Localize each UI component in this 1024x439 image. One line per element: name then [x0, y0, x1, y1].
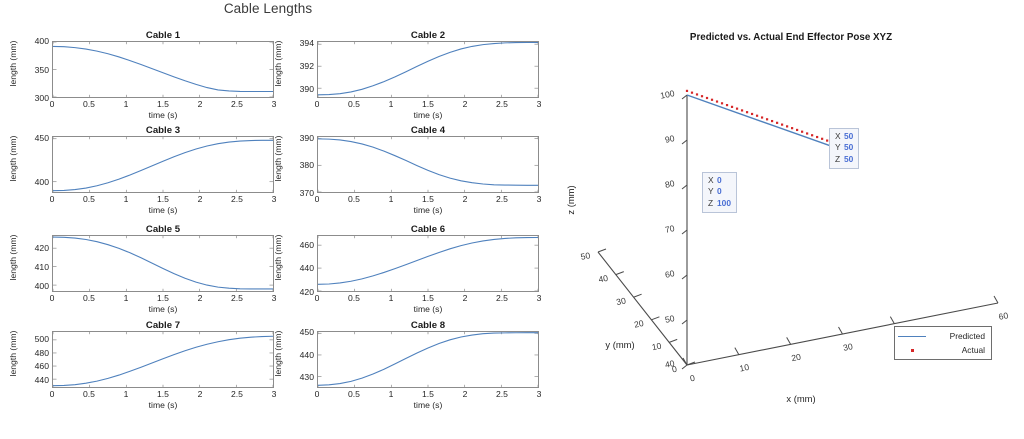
z-axis-label: z (mm)	[565, 185, 576, 214]
cable-7-ytick-label: 440	[19, 375, 49, 385]
cable-3-ylabel: length (mm)	[8, 124, 18, 193]
cable-axes-5	[52, 235, 274, 292]
cable-2-xtick-label: 1.5	[416, 99, 440, 109]
z-axis-tick-label: 70	[664, 223, 676, 235]
z-axis-tickmark	[682, 320, 687, 324]
matlab-figure: Cable Lengths Cable 130035040000.511.522…	[0, 0, 1024, 439]
pose-plot-axes: 0102030406001020304050405060708090100x (…	[556, 0, 1024, 439]
actual-marker	[821, 138, 823, 140]
cable-subplot-1: Cable 130035040000.511.522.53length (mm)…	[52, 41, 274, 98]
cable-7-xtick-label: 1.5	[151, 389, 175, 399]
cable-4-ytick-label: 380	[284, 160, 314, 170]
cable-4-ytick-label: 390	[284, 133, 314, 143]
y-axis-tickmark	[651, 317, 659, 320]
cable-1-xtick-label: 0	[40, 99, 64, 109]
actual-marker	[826, 139, 828, 141]
y-axis-label: y (mm)	[605, 339, 634, 350]
cable-curve-6	[318, 237, 538, 284]
cable-axes-3	[52, 136, 274, 193]
cable-3-ytick-label: 400	[19, 177, 49, 187]
cable-5-xtick-label: 0	[40, 293, 64, 303]
cable-7-xtick-label: 2.5	[225, 389, 249, 399]
cable-axes-6	[317, 235, 539, 292]
datatip-end-y: Y50	[835, 142, 853, 153]
cable-8-xtick-label: 2.5	[490, 389, 514, 399]
cable-axes-4	[317, 136, 539, 193]
cable-4-xtick-label: 0	[305, 194, 329, 204]
actual-marker	[736, 108, 738, 110]
cable-subplot-title-4: Cable 4	[317, 125, 539, 136]
z-axis-tick-label: 60	[664, 268, 676, 280]
cable-5-xtick-label: 3	[262, 293, 286, 303]
z-axis-tick-label: 100	[659, 88, 675, 101]
cable-2-xtick-label: 0.5	[342, 99, 366, 109]
cable-lengths-panel: Cable Lengths Cable 130035040000.511.522…	[0, 0, 556, 439]
cable-6-ytick-label: 440	[284, 263, 314, 273]
actual-marker	[776, 122, 778, 124]
y-axis-tickmark	[598, 249, 606, 252]
cable-5-ytick-label: 410	[19, 262, 49, 272]
cable-7-ytick-label: 500	[19, 334, 49, 344]
cable-7-ytick-label: 460	[19, 361, 49, 371]
cable-subplot-title-2: Cable 2	[317, 30, 539, 41]
cable-2-ytick-label: 390	[284, 84, 314, 94]
cable-1-ylabel: length (mm)	[8, 29, 18, 98]
actual-marker	[751, 113, 753, 115]
datatip-end-point[interactable]: X50 Y50 Z50	[829, 128, 859, 169]
cable-4-xlabel: time (s)	[317, 205, 539, 215]
cable-axes-8	[317, 331, 539, 388]
cable-5-xtick-label: 1	[114, 293, 138, 303]
cable-2-xtick-label: 2	[453, 99, 477, 109]
cable-4-ylabel: length (mm)	[273, 124, 283, 193]
cable-1-xtick-label: 0.5	[77, 99, 101, 109]
actual-marker	[796, 129, 798, 131]
cable-1-ytick-label: 400	[19, 36, 49, 46]
cable-2-xtick-label: 2.5	[490, 99, 514, 109]
z-axis-tick-label: 90	[664, 133, 676, 145]
cable-1-xtick-label: 3	[262, 99, 286, 109]
cable-7-xtick-label: 0.5	[77, 389, 101, 399]
cable-7-ylabel: length (mm)	[8, 319, 18, 388]
cable-2-xtick-label: 3	[527, 99, 551, 109]
cable-7-xtick-label: 1	[114, 389, 138, 399]
y-axis-tick-label: 40	[598, 273, 610, 285]
cable-subplot-title-5: Cable 5	[52, 224, 274, 235]
cable-2-ytick-label: 392	[284, 61, 314, 71]
cable-3-xtick-label: 1	[114, 194, 138, 204]
z-axis-tickmark	[682, 365, 687, 369]
actual-marker	[761, 116, 763, 118]
x-axis-tickmark	[994, 296, 998, 303]
cable-3-xtick-label: 0.5	[77, 194, 101, 204]
legend-label-actual: Actual	[929, 345, 987, 355]
cable-1-xtick-label: 2.5	[225, 99, 249, 109]
z-axis-tickmark	[682, 95, 687, 99]
datatip-start-z: Z100	[708, 198, 731, 209]
cable-subplot-3: Cable 340045000.511.522.53length (mm)tim…	[52, 136, 274, 193]
actual-marker	[766, 118, 768, 120]
actual-marker	[686, 90, 688, 92]
cable-8-xtick-label: 1	[379, 389, 403, 399]
cable-6-xtick-label: 1	[379, 293, 403, 303]
datatip-start-x: X0	[708, 175, 731, 186]
cable-axes-2	[317, 41, 539, 98]
y-axis-tickmark	[634, 294, 642, 297]
cable-8-xlabel: time (s)	[317, 400, 539, 410]
actual-marker	[806, 132, 808, 134]
cable-1-xtick-label: 2	[188, 99, 212, 109]
cable-8-xtick-label: 1.5	[416, 389, 440, 399]
cable-5-ytick-label: 400	[19, 281, 49, 291]
actual-marker	[701, 95, 703, 97]
cable-1-xlabel: time (s)	[52, 110, 274, 120]
actual-marker	[746, 111, 748, 113]
x-axis-tickmark	[787, 337, 791, 344]
cable-curve-5	[53, 237, 273, 289]
z-axis-tickmark	[682, 230, 687, 234]
cable-3-ytick-label: 450	[19, 133, 49, 143]
legend-entry-actual[interactable]: Actual	[895, 342, 987, 358]
actual-marker	[726, 104, 728, 106]
actual-marker	[786, 125, 788, 127]
cable-7-xlabel: time (s)	[52, 400, 274, 410]
cable-5-xlabel: time (s)	[52, 304, 274, 314]
z-axis-tick-label: 50	[664, 313, 676, 325]
cable-8-xtick-label: 3	[527, 389, 551, 399]
pose-legend[interactable]: Predicted Actual	[894, 326, 992, 360]
cable-7-xtick-label: 0	[40, 389, 64, 399]
cable-8-ytick-label: 430	[284, 372, 314, 382]
actual-marker	[811, 134, 813, 136]
cable-1-xtick-label: 1.5	[151, 99, 175, 109]
cable-subplot-5: Cable 540041042000.511.522.53length (mm)…	[52, 235, 274, 292]
pose-plot-panel: Predicted vs. Actual End Effector Pose X…	[556, 0, 1024, 439]
cable-curve-7	[53, 336, 273, 385]
cable-subplot-7: Cable 744046048050000.511.522.53length (…	[52, 331, 274, 388]
cable-3-xtick-label: 3	[262, 194, 286, 204]
cable-2-xtick-label: 1	[379, 99, 403, 109]
cable-subplot-title-1: Cable 1	[52, 30, 274, 41]
y-axis-tick-label: 30	[615, 295, 627, 307]
cable-6-xtick-label: 0	[305, 293, 329, 303]
cable-1-ytick-label: 350	[19, 65, 49, 75]
cable-6-xtick-label: 1.5	[416, 293, 440, 303]
datatip-start-point[interactable]: X0 Y0 Z100	[702, 172, 737, 213]
cable-3-xlabel: time (s)	[52, 205, 274, 215]
y-axis-tick-label: 10	[651, 341, 663, 353]
actual-marker	[696, 93, 698, 95]
cable-curve-8	[318, 333, 538, 386]
cable-curve-1	[53, 46, 273, 91]
cable-subplot-title-6: Cable 6	[317, 224, 539, 235]
cable-curve-4	[318, 139, 538, 185]
cable-8-ytick-label: 450	[284, 327, 314, 337]
x-axis-tickmark	[735, 348, 739, 355]
x-axis-tick-label: 60	[998, 310, 1010, 322]
actual-marker	[801, 131, 803, 133]
cable-curve-2	[318, 42, 538, 94]
datatip-end-z: Z50	[835, 154, 853, 165]
actual-marker	[691, 92, 693, 94]
cable-8-xtick-label: 2	[453, 389, 477, 399]
y-axis-tickmark	[616, 272, 624, 275]
cable-2-ylabel: length (mm)	[273, 29, 283, 98]
datatip-start-y: Y0	[708, 186, 731, 197]
cable-2-ytick-label: 394	[284, 38, 314, 48]
cable-6-xtick-label: 2	[453, 293, 477, 303]
actual-marker	[706, 97, 708, 99]
y-axis-tick-label: 20	[633, 318, 645, 330]
z-axis-tick-label: 40	[664, 358, 676, 370]
cable-8-ytick-label: 440	[284, 350, 314, 360]
actual-marker	[756, 115, 758, 117]
x-axis-tickmark	[839, 327, 843, 334]
cable-6-ylabel: length (mm)	[273, 223, 283, 292]
cable-subplot-title-7: Cable 7	[52, 320, 274, 331]
actual-marker	[816, 136, 818, 138]
cable-subplot-6: Cable 642044046000.511.522.53length (mm)…	[317, 235, 539, 292]
cable-1-xtick-label: 1	[114, 99, 138, 109]
actual-marker	[731, 106, 733, 108]
cable-5-ytick-label: 420	[19, 243, 49, 253]
cable-5-xtick-label: 1.5	[151, 293, 175, 303]
cable-subplot-title-8: Cable 8	[317, 320, 539, 331]
legend-marker-sample-icon	[895, 344, 929, 356]
cable-curve-3	[53, 140, 273, 190]
actual-marker	[711, 99, 713, 101]
legend-label-predicted: Predicted	[929, 331, 987, 341]
datatip-end-x: X50	[835, 131, 853, 142]
cable-4-xtick-label: 1	[379, 194, 403, 204]
cable-6-xlabel: time (s)	[317, 304, 539, 314]
cable-subplot-8: Cable 843044045000.511.522.53length (mm)…	[317, 331, 539, 388]
y-axis-tick-label: 50	[580, 250, 592, 262]
cable-subplot-4: Cable 437038039000.511.522.53length (mm)…	[317, 136, 539, 193]
cable-3-xtick-label: 2	[188, 194, 212, 204]
z-axis-tickmark	[682, 275, 687, 279]
actual-marker	[781, 124, 783, 126]
x-axis-tick-label: 20	[790, 352, 802, 364]
actual-marker	[716, 100, 718, 102]
cable-3-xtick-label: 1.5	[151, 194, 175, 204]
cable-6-xtick-label: 2.5	[490, 293, 514, 303]
cable-7-ytick-label: 480	[19, 348, 49, 358]
cable-5-xtick-label: 2	[188, 293, 212, 303]
cable-3-xtick-label: 0	[40, 194, 64, 204]
cable-8-ylabel: length (mm)	[273, 319, 283, 388]
cable-4-xtick-label: 3	[527, 194, 551, 204]
cable-7-xtick-label: 2	[188, 389, 212, 399]
x-axis-label: x (mm)	[786, 393, 815, 404]
legend-line-sample-icon	[895, 330, 929, 342]
cable-3-xtick-label: 2.5	[225, 194, 249, 204]
x-axis-tick-label: 0	[689, 373, 696, 384]
z-axis-tick-label: 80	[664, 178, 676, 190]
cable-4-xtick-label: 2	[453, 194, 477, 204]
x-axis-tick-label: 30	[842, 341, 854, 353]
cable-5-xtick-label: 0.5	[77, 293, 101, 303]
cable-axes-7	[52, 331, 274, 388]
cable-2-xlabel: time (s)	[317, 110, 539, 120]
actual-marker	[721, 102, 723, 104]
cable-subplot-title-3: Cable 3	[52, 125, 274, 136]
z-axis-tickmark	[682, 140, 687, 144]
z-axis-tickmark	[682, 185, 687, 189]
cable-axes-1	[52, 41, 274, 98]
x-axis-tick-label: 10	[739, 362, 751, 374]
cable-2-xtick-label: 0	[305, 99, 329, 109]
cable-7-xtick-label: 3	[262, 389, 286, 399]
cable-6-xtick-label: 3	[527, 293, 551, 303]
cable-8-xtick-label: 0	[305, 389, 329, 399]
cable-4-xtick-label: 2.5	[490, 194, 514, 204]
cable-6-xtick-label: 0.5	[342, 293, 366, 303]
cable-6-ytick-label: 460	[284, 240, 314, 250]
cable-subplot-2: Cable 239039239400.511.522.53length (mm)…	[317, 41, 539, 98]
cable-lengths-title: Cable Lengths	[188, 1, 348, 16]
y-axis-tickmark	[669, 339, 677, 342]
x-axis-tickmark	[890, 317, 894, 324]
cable-8-xtick-label: 0.5	[342, 389, 366, 399]
actual-marker	[741, 109, 743, 111]
actual-marker	[771, 120, 773, 122]
cable-4-xtick-label: 1.5	[416, 194, 440, 204]
actual-marker	[791, 127, 793, 129]
cable-5-ylabel: length (mm)	[8, 223, 18, 292]
cable-5-xtick-label: 2.5	[225, 293, 249, 303]
cable-4-xtick-label: 0.5	[342, 194, 366, 204]
